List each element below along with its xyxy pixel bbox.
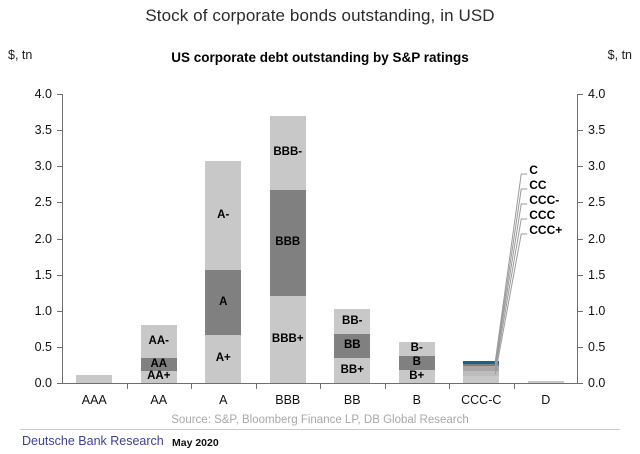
bar-segment-label: BB xyxy=(344,340,361,352)
bar-segment-a-[interactable]: A+ xyxy=(205,335,241,383)
y-axis-label-r-0.5: 0.5 xyxy=(588,341,622,354)
y-tick-r-2.0 xyxy=(578,239,583,240)
bar-segment-bb-[interactable]: BB- xyxy=(334,309,370,334)
bar-b[interactable]: B+BB- xyxy=(399,342,435,383)
bar-segment-aa-[interactable]: AA- xyxy=(141,325,177,358)
bar-segment-aa[interactable]: AA xyxy=(141,358,177,370)
y-axis-label-l-0.0: 0.0 xyxy=(18,377,52,390)
y-axis-unit-left: $, tn xyxy=(8,48,32,62)
bar-a[interactable]: A+AA- xyxy=(205,161,241,383)
bar-segment-label: B- xyxy=(411,343,423,355)
bar-segment-label: AA xyxy=(150,359,167,371)
y-tick-r-0.0 xyxy=(578,383,583,384)
bar-segment-label: A xyxy=(219,297,227,309)
y-tick-l-2.0 xyxy=(57,239,62,240)
bar-ccc-c[interactable] xyxy=(463,361,499,383)
y-tick-r-3.5 xyxy=(578,130,583,131)
y-axis-label-r-3.5: 3.5 xyxy=(588,124,622,137)
callout-lines xyxy=(62,94,578,383)
bar-segment-label: BBB xyxy=(275,237,300,249)
y-axis-label-l-2.5: 2.5 xyxy=(18,196,52,209)
bar-bbb[interactable]: BBB+BBBBBB- xyxy=(270,116,306,383)
x-tick-7 xyxy=(514,383,515,389)
x-axis-label-aa: AA xyxy=(127,393,192,407)
callout-label-ccc: CCC xyxy=(529,209,555,221)
bar-segment-bb-[interactable]: BB+ xyxy=(334,358,370,383)
footer-date: May 2020 xyxy=(172,437,219,449)
x-tick-2 xyxy=(191,383,192,389)
bar-segment-label: B xyxy=(413,357,421,369)
callout-label-cc: CC xyxy=(529,179,546,191)
chart-title: US corporate debt outstanding by S&P rat… xyxy=(60,50,580,65)
bar-segment-c[interactable] xyxy=(463,361,499,363)
bar-segment-label: BBB- xyxy=(273,147,302,159)
bar-segment-bbb-[interactable]: BBB+ xyxy=(270,296,306,383)
y-tick-r-2.5 xyxy=(578,202,583,203)
y-tick-l-2.5 xyxy=(57,202,62,203)
y-tick-l-3.0 xyxy=(57,166,62,167)
bar-aaa[interactable] xyxy=(76,375,112,383)
callout-label-c: C xyxy=(529,164,538,176)
x-axis-label-a: A xyxy=(191,393,256,407)
y-axis-label-l-3.0: 3.0 xyxy=(18,160,52,173)
y-tick-l-4.0 xyxy=(57,94,62,95)
bar-segment-b-[interactable]: B- xyxy=(399,342,435,356)
y-tick-l-1.0 xyxy=(57,311,62,312)
bar-segment-cc[interactable] xyxy=(463,364,499,366)
page-title: Stock of corporate bonds outstanding, in… xyxy=(0,6,640,26)
bar-d[interactable] xyxy=(528,381,564,383)
bar-segment-bbb[interactable]: BBB xyxy=(270,190,306,295)
bar-segment-ccc-[interactable] xyxy=(463,366,499,371)
bar-segment-label: BB+ xyxy=(341,365,364,377)
y-axis-label-r-1.5: 1.5 xyxy=(588,269,622,282)
x-tick-3 xyxy=(256,383,257,389)
x-axis-label-aaa: AAA xyxy=(62,393,127,407)
y-axis-label-r-3.0: 3.0 xyxy=(588,160,622,173)
x-axis-label-bb: BB xyxy=(320,393,385,407)
x-axis-label-b: B xyxy=(385,393,450,407)
bar-segment-label: B+ xyxy=(409,371,424,383)
bar-aa[interactable]: AA+AAAA- xyxy=(141,325,177,383)
callouts-group: CCCCCC-CCCCCC+ xyxy=(62,94,578,383)
source-note: Source: S&P, Bloomberg Finance LP, DB Gl… xyxy=(62,414,578,426)
y-tick-r-3.0 xyxy=(578,166,583,167)
y-tick-r-1.5 xyxy=(578,275,583,276)
y-axis-label-l-3.5: 3.5 xyxy=(18,124,52,137)
y-tick-r-4.0 xyxy=(578,94,583,95)
footer-brand: Deutsche Bank Research xyxy=(22,434,164,448)
y-tick-r-1.0 xyxy=(578,311,583,312)
callout-label-ccc-: CCC+ xyxy=(529,224,562,236)
callout-label-ccc-: CCC- xyxy=(529,194,559,206)
bar-segment-a-[interactable]: A- xyxy=(205,161,241,270)
y-axis-label-l-4.0: 4.0 xyxy=(18,88,52,101)
y-axis-label-r-4.0: 4.0 xyxy=(588,88,622,101)
bar-segment-ccc-[interactable] xyxy=(463,376,499,383)
bar-segment-aaa[interactable] xyxy=(76,375,112,383)
y-axis-left-line xyxy=(62,94,63,383)
bar-segment-b-[interactable]: B+ xyxy=(399,370,435,383)
bar-segment-d[interactable] xyxy=(528,381,564,383)
x-axis-label-bbb: BBB xyxy=(256,393,321,407)
y-axis-label-l-1.5: 1.5 xyxy=(18,269,52,282)
y-tick-l-0.5 xyxy=(57,347,62,348)
bar-segment-bb[interactable]: BB xyxy=(334,334,370,358)
bar-segment-label: A+ xyxy=(216,353,231,365)
y-axis-label-r-0.0: 0.0 xyxy=(588,377,622,390)
y-tick-l-1.5 xyxy=(57,275,62,276)
y-axis-label-r-2.5: 2.5 xyxy=(588,196,622,209)
x-tick-4 xyxy=(320,383,321,389)
y-axis-label-r-2.0: 2.0 xyxy=(588,233,622,246)
bar-segment-bbb-[interactable]: BBB- xyxy=(270,116,306,190)
bar-segment-label: AA+ xyxy=(147,371,170,383)
bar-segment-label: AA- xyxy=(149,336,169,348)
y-tick-l-0.0 xyxy=(57,383,62,384)
x-tick-5 xyxy=(385,383,386,389)
bar-segment-ccc[interactable] xyxy=(463,371,499,376)
footer-divider xyxy=(20,429,620,430)
y-axis-label-r-1.0: 1.0 xyxy=(588,305,622,318)
y-tick-l-3.5 xyxy=(57,130,62,131)
bar-segment-b[interactable]: B xyxy=(399,356,435,370)
y-axis-label-l-2.0: 2.0 xyxy=(18,233,52,246)
x-tick-6 xyxy=(449,383,450,389)
x-axis-label-ccc-c: CCC-C xyxy=(449,393,514,407)
y-axis-label-l-1.0: 1.0 xyxy=(18,305,52,318)
x-tick-1 xyxy=(127,383,128,389)
bar-segment-label: BBB+ xyxy=(272,334,304,346)
bar-segment-a[interactable]: A xyxy=(205,270,241,335)
plot-area: 0.00.00.50.51.01.01.51.52.02.02.52.53.03… xyxy=(62,94,578,383)
bar-segment-label: BB- xyxy=(342,316,362,328)
y-axis-unit-right: $, tn xyxy=(608,48,632,62)
bar-segment-aa-[interactable]: AA+ xyxy=(141,371,177,383)
y-tick-r-0.5 xyxy=(578,347,583,348)
bar-segment-label: A- xyxy=(217,210,229,222)
x-axis-label-d: D xyxy=(514,393,579,407)
y-axis-label-l-0.5: 0.5 xyxy=(18,341,52,354)
bar-bb[interactable]: BB+BBBB- xyxy=(334,309,370,383)
